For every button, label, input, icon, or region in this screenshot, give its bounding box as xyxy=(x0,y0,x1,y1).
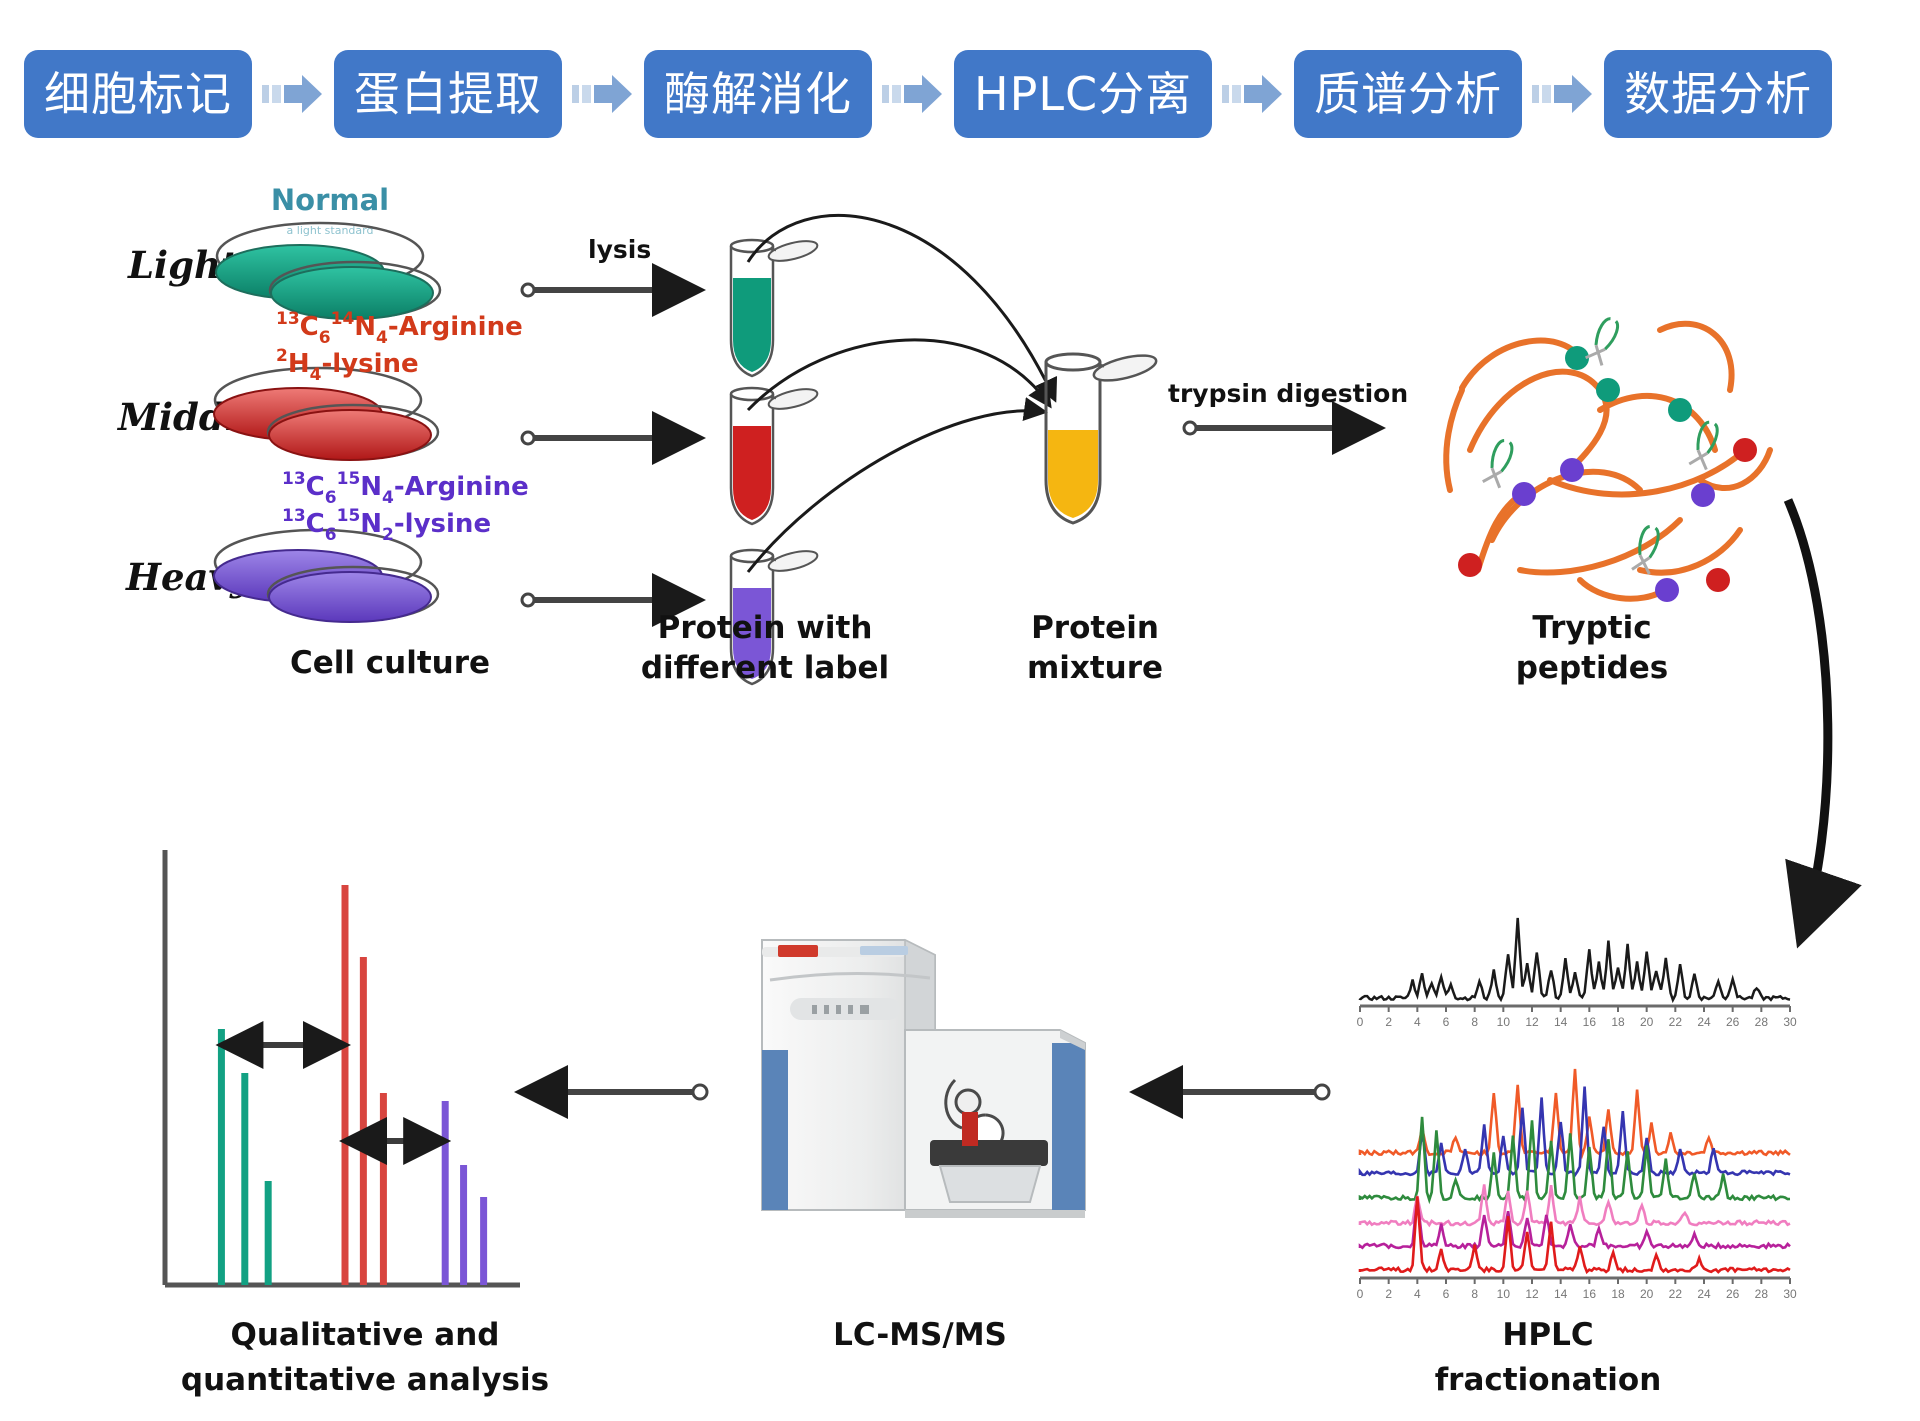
hplc-axis-tick-label: 14 xyxy=(1554,1287,1568,1301)
caption-cell-culture: Cell culture xyxy=(290,645,490,681)
hplc-axis-tick-label: 28 xyxy=(1755,1015,1769,1029)
process-step-6[interactable]: 数据分析 xyxy=(1604,50,1832,138)
process-step-label: 数据分析 xyxy=(1624,71,1812,117)
process-step-1[interactable]: 细胞标记 xyxy=(24,50,252,138)
hplc-axis-tick-label: 10 xyxy=(1497,1287,1511,1301)
process-step-2[interactable]: 蛋白提取 xyxy=(334,50,562,138)
hplc-axis-tick-label: 10 xyxy=(1497,1015,1511,1029)
hplc-axis-tick-label: 26 xyxy=(1726,1287,1740,1301)
hplc-axis-tick-label: 8 xyxy=(1471,1015,1478,1029)
hplc-axis-tick-label: 0 xyxy=(1357,1015,1364,1029)
petri-dish-light xyxy=(216,223,440,319)
hplc-axis-tick-label: 12 xyxy=(1525,1287,1539,1301)
hplc-axis-tick-label: 22 xyxy=(1669,1015,1683,1029)
hplc-axis-tick-label: 20 xyxy=(1640,1287,1654,1301)
flow-arrow-to-hplc xyxy=(1788,500,1828,940)
lc-ms-ms-instrument xyxy=(762,940,1085,1218)
process-step-label: HPLC分离 xyxy=(974,71,1192,117)
hplc-axis-tick-label: 20 xyxy=(1640,1015,1654,1029)
trypsin-arrow xyxy=(1184,422,1380,434)
lysis-arrow-middle xyxy=(522,432,700,444)
svg-text:13C614N4-Arginine: 13C614N4-Arginine xyxy=(276,309,523,348)
normal-title: Normal xyxy=(271,183,389,217)
process-banner: 细胞标记蛋白提取酶解消化HPLC分离质谱分析数据分析 xyxy=(0,44,1920,144)
process-step-label: 酶解消化 xyxy=(664,71,852,117)
hplc-trace xyxy=(1360,918,1790,1000)
hplc-axis-tick-label: 0 xyxy=(1357,1287,1364,1301)
hplc-axis-tick-label: 2 xyxy=(1385,1015,1392,1029)
caption-protein-mixture-1: Protein xyxy=(1031,610,1159,646)
amino-label-red: 13C614N4-Arginine 2H4-lysine xyxy=(276,309,523,385)
hplc-trace xyxy=(1360,1196,1790,1272)
caption-tryptic-2: peptides xyxy=(1516,650,1669,686)
hplc-axis-tick-label: 8 xyxy=(1471,1287,1478,1301)
caption-protein-label-1: Protein with xyxy=(658,610,873,646)
hplc-axis-tick-label: 12 xyxy=(1525,1015,1539,1029)
hplc-axis-tick-label: 30 xyxy=(1783,1015,1797,1029)
hplc-trace xyxy=(1360,1117,1790,1200)
trypsin-digestion-label: trypsin digestion xyxy=(1168,379,1408,408)
hplc-axis-tick-label: 4 xyxy=(1414,1015,1421,1029)
flow-arrow-to-instrument xyxy=(1135,1085,1329,1099)
hplc-axis-tick-label: 24 xyxy=(1697,1287,1711,1301)
right-arrow-icon xyxy=(882,71,944,117)
caption-protein-label-2: different label xyxy=(641,650,889,686)
caption-hplc-1: HPLC xyxy=(1502,1317,1593,1353)
hplc-axis-tick-label: 16 xyxy=(1583,1015,1597,1029)
hplc-axis-tick-label: 30 xyxy=(1783,1287,1797,1301)
lysis-label: lysis xyxy=(588,235,651,264)
lysis-arrow-heavy xyxy=(522,594,700,606)
caption-lcmsms: LC-MS/MS xyxy=(833,1317,1007,1353)
hplc-axis-tick-label: 2 xyxy=(1385,1287,1392,1301)
caption-protein-mixture-2: mixture xyxy=(1027,650,1163,686)
svg-text:13C615N4-Arginine: 13C615N4-Arginine xyxy=(282,469,529,508)
lysis-arrow-light xyxy=(522,284,700,296)
hplc-axis-tick-label: 14 xyxy=(1554,1015,1568,1029)
caption-analysis-1: Qualitative and xyxy=(231,1317,500,1353)
ms-spectrum-chart xyxy=(165,850,520,1285)
right-arrow-icon xyxy=(572,71,634,117)
hplc-axis-tick-label: 16 xyxy=(1583,1287,1597,1301)
right-arrow-icon xyxy=(1222,71,1284,117)
hplc-fractionation-chart: 024681012141618202224262830 024681012141… xyxy=(1357,918,1797,1301)
process-step-label: 蛋白提取 xyxy=(354,71,542,117)
process-step-5[interactable]: 质谱分析 xyxy=(1294,50,1522,138)
process-step-label: 质谱分析 xyxy=(1314,71,1502,117)
scissors-icon xyxy=(1483,316,1721,574)
protein-mixture-tube xyxy=(1046,351,1158,523)
hplc-axis-tick-label: 18 xyxy=(1611,1015,1625,1029)
caption-analysis-2: quantitative analysis xyxy=(181,1362,549,1398)
hplc-axis-tick-label: 24 xyxy=(1697,1015,1711,1029)
process-step-3[interactable]: 酶解消化 xyxy=(644,50,872,138)
hplc-axis-tick-label: 22 xyxy=(1669,1287,1683,1301)
hplc-axis-tick-label: 6 xyxy=(1443,1287,1450,1301)
amino-label-purple: 13C615N4-Arginine 13C615N2-lysine xyxy=(282,469,529,545)
right-arrow-icon xyxy=(262,71,324,117)
eppendorf-tube-middle xyxy=(731,385,819,524)
process-step-label: 细胞标记 xyxy=(44,71,232,117)
tryptic-peptides-illustration xyxy=(1446,316,1770,602)
svg-text:13C615N2-lysine: 13C615N2-lysine xyxy=(282,506,491,545)
hplc-axis-tick-label: 18 xyxy=(1611,1287,1625,1301)
hplc-axis-tick-label: 26 xyxy=(1726,1015,1740,1029)
right-arrow-icon xyxy=(1532,71,1594,117)
flow-arrow-to-analysis xyxy=(520,1085,707,1099)
silac-workflow-diagram: Normal a light standard Light Middle Hea… xyxy=(0,150,1920,1421)
eppendorf-tube-light xyxy=(731,237,819,376)
process-step-4[interactable]: HPLC分离 xyxy=(954,50,1212,138)
caption-hplc-2: fractionation xyxy=(1435,1362,1662,1398)
hplc-axis-tick-label: 4 xyxy=(1414,1287,1421,1301)
hplc-axis-tick-label: 28 xyxy=(1755,1287,1769,1301)
hplc-axis-tick-label: 6 xyxy=(1443,1015,1450,1029)
caption-tryptic-1: Tryptic xyxy=(1532,610,1651,646)
petri-dish-middle xyxy=(214,368,438,460)
